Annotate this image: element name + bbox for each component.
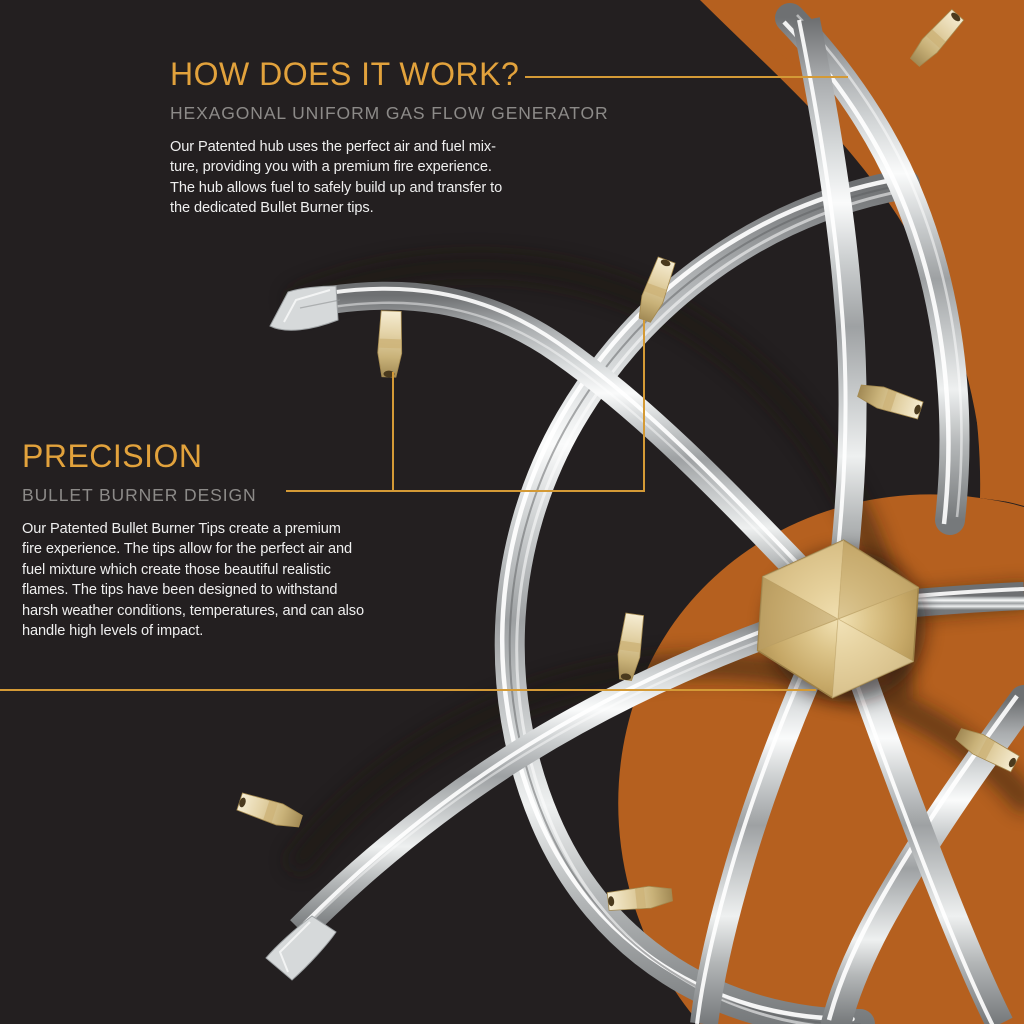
section-title: PRECISION [22,440,442,472]
section-precision: PRECISION BULLET BURNER DESIGN Our Paten… [22,440,442,642]
bullet-tip-bracket-right [643,320,645,492]
body-line: Our Patented hub uses the perfect air an… [170,137,580,158]
section-body: Our Patented Bullet Burner Tips create a… [22,519,442,643]
section-how-does-it-work: HOW DOES IT WORK? HEXAGONAL UNIFORM GAS … [170,58,580,219]
body-line: fire experience. The tips allow for the … [22,539,442,560]
section-divider-line [0,689,816,691]
infographic-page: HOW DOES IT WORK? HEXAGONAL UNIFORM GAS … [0,0,1024,1024]
body-line: fuel mixture which create those beautifu… [22,560,442,581]
body-line: flames. The tips have been designed to w… [22,580,442,601]
section-body: Our Patented hub uses the perfect air an… [170,137,580,219]
body-line: handle high levels of impact. [22,621,442,642]
body-line: the dedicated Bullet Burner tips. [170,198,580,219]
body-line: harsh weather conditions, temperatures, … [22,601,442,622]
body-line: The hub allows fuel to safely build up a… [170,178,580,199]
section-subtitle: BULLET BURNER DESIGN [22,487,442,505]
body-line: ture, providing you with a premium fire … [170,157,580,178]
body-line: Our Patented Bullet Burner Tips create a… [22,519,442,540]
section-subtitle: HEXAGONAL UNIFORM GAS FLOW GENERATOR [170,105,580,123]
section-title: HOW DOES IT WORK? [170,58,580,90]
